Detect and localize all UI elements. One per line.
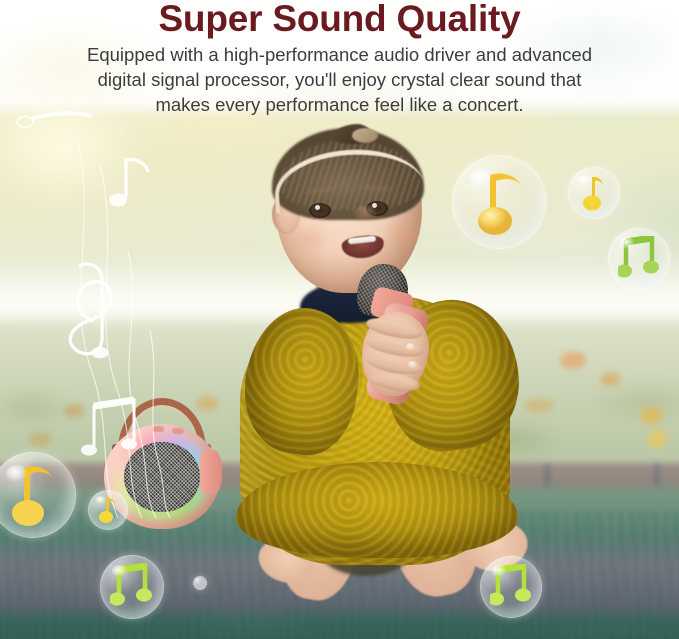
bubble-note-green-beamed-right [608, 228, 670, 290]
eighth-note-icon [4, 460, 62, 530]
bubble-note-gold-tiny-mid [88, 490, 128, 530]
subtitle-line-3: makes every performance feel like a conc… [54, 92, 625, 117]
speaker-button [172, 428, 184, 434]
cheek-right [386, 222, 424, 248]
speaker-button [152, 426, 164, 432]
cheek-left [292, 226, 330, 252]
subtitle-line-2: digital signal processor, you'll enjoy c… [54, 67, 625, 92]
speaker-grille [124, 442, 200, 512]
bubble-note-green-beamed-bottom [100, 555, 164, 619]
speaker-grille-mesh [124, 442, 200, 512]
eighth-note-icon [580, 173, 608, 213]
header-banner: Super Sound Quality Equipped with a high… [0, 0, 679, 118]
promo-image-root: Super Sound Quality Equipped with a high… [0, 0, 679, 639]
bubble-empty-small [193, 576, 207, 590]
hair-bow-highlight [352, 128, 378, 143]
page-title: Super Sound Quality [0, 0, 679, 40]
beamed-eighth-notes-icon [110, 563, 154, 611]
speaker-side-panel [200, 450, 222, 494]
beamed-eighth-notes-icon [490, 564, 532, 610]
fingernail [406, 343, 415, 350]
eye-left [309, 203, 331, 218]
subtitle-line-1: Equipped with a high-performance audio d… [54, 42, 625, 67]
fingernail [408, 361, 417, 368]
eighth-note-icon [97, 495, 119, 525]
bubble-note-gold-small-right [568, 167, 620, 219]
bubble-note-gold-large-right [452, 155, 546, 249]
page-subtitle: Equipped with a high-performance audio d… [0, 42, 679, 117]
nose [352, 206, 378, 224]
beamed-eighth-notes-icon [618, 236, 660, 282]
bubble-note-green-beamed-bottom-right [480, 556, 542, 618]
eighth-note-icon [468, 165, 530, 239]
